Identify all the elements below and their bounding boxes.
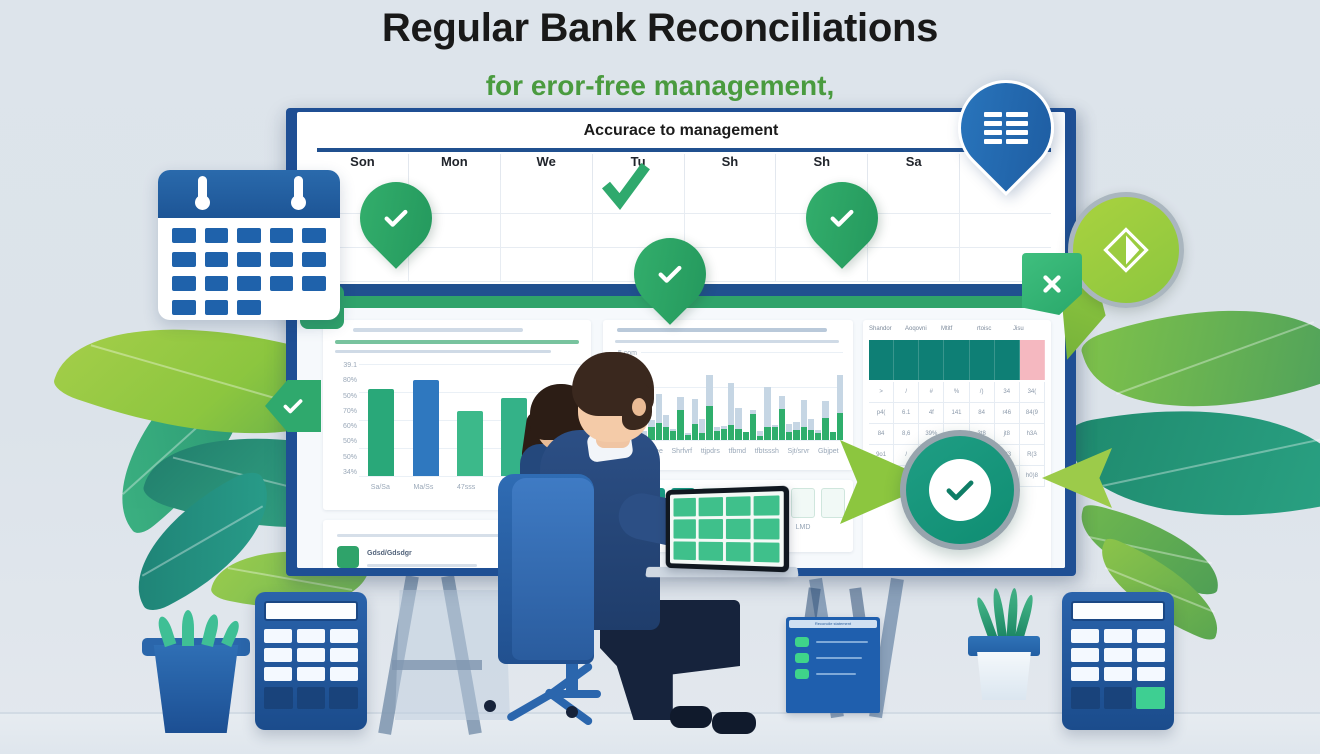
spreadsheet-cell[interactable]: # [919,382,944,402]
calculator-right[interactable] [1062,592,1174,730]
metric-tile-7[interactable] [821,488,845,518]
y-tick: 80% [329,377,357,384]
metric-tile-label [821,524,845,531]
person-shoe [712,712,756,734]
sheet-header-cell: Mtitf [941,326,973,336]
page-title: Regular Bank Reconciliations [0,6,1320,51]
chart-meta-bar [615,340,839,343]
spreadsheet-cell[interactable]: h0)8 [1020,466,1045,486]
status-dot [795,653,809,663]
status-dot [795,669,809,679]
green-bar-24 [815,433,821,440]
day-column-4: Sh [685,154,777,180]
alert-cell [1020,340,1045,380]
day-column-2: We [501,154,593,180]
x-tick: Shrfvrf [672,448,693,462]
window-title-bar: Reconcile statement [789,620,877,628]
green-bar-25 [822,418,828,440]
green-bar-2 [656,423,662,440]
calculator-bottom-keys[interactable] [264,687,358,709]
green-bar-12 [728,425,734,440]
sheet-header-cell: Jisu [1013,326,1045,336]
green-bar-20 [786,432,792,440]
spreadsheet-cell[interactable]: 34 [995,382,1020,402]
calendar-ring [198,176,207,206]
green-bar-10 [714,431,720,440]
green-bar-27 [837,413,843,440]
y-tick: 60% [329,423,357,430]
spreadsheet-cell[interactable]: 84 [970,403,995,423]
green-bar-5 [677,410,683,440]
green-bar-21 [793,430,799,440]
spreadsheet-cell[interactable]: 141 [944,403,969,423]
x-tick: Sjt/srvr [788,448,810,462]
chart-title-placeholder [617,328,827,332]
green-bar-9 [706,406,712,440]
green-bar-19 [779,409,785,440]
x-tick: tfbmd [729,448,747,462]
green-bar-3 [663,427,669,440]
spreadsheet-row: p4(6.14f14184r4684(9 [869,403,1045,424]
page-subtitle: for eror-free management, [0,70,1320,102]
bar-0 [368,389,394,476]
spreadsheet-cell[interactable]: 6.1 [894,403,919,423]
sheet-header-cell: Aoqovni [905,326,937,336]
table-grid-icon [984,112,1028,144]
potted-plant-small [972,652,1036,700]
middle-chart-green-bars [641,352,843,440]
calculator-bottom-keys[interactable] [1071,687,1165,709]
calculator-left[interactable] [255,592,367,730]
middle-chart-plot [641,352,843,440]
y-tick: 50% [329,438,357,445]
magnifier-diamond[interactable] [1068,192,1184,308]
x-tick: tfbtsssh [755,448,779,462]
laptop-spreadsheet [670,491,784,567]
x-tick: Sa/Sa [371,484,390,498]
check-icon [380,202,412,234]
spreadsheet-row: >/#%/)3434( [869,382,1045,403]
spreadsheet-cell[interactable]: 4f [919,403,944,423]
spreadsheet-cell[interactable]: r46 [995,403,1020,423]
spreadsheet-cell[interactable]: > [869,382,894,402]
green-bar-13 [735,429,741,440]
x-tick: ttjpdrs [701,448,720,462]
spreadsheet-cell[interactable]: 84(9 [1020,403,1045,423]
green-bar-8 [699,433,705,440]
calculator-keys[interactable] [264,629,358,681]
green-bar-26 [830,432,836,440]
reconciliation-window[interactable]: Reconcile statement [786,617,880,713]
bank-icon [337,546,359,568]
spreadsheet-cell[interactable]: R(3 [1020,445,1045,465]
grass-blade [182,610,194,646]
calculator-display [1071,601,1165,621]
green-bar-22 [801,427,807,440]
green-bar-15 [750,414,756,440]
y-tick: 50% [329,393,357,400]
sheet-header-cell: Shandor [869,326,901,336]
green-bar-14 [743,432,749,440]
bar-2 [457,411,483,476]
sheet-header-cell: rtoisc [977,326,1009,336]
check-icon [826,202,858,234]
spreadsheet-cell[interactable]: % [944,382,969,402]
chart-meta-bar [335,350,551,353]
spreadsheet-cell[interactable]: /) [970,382,995,402]
calendar-header [158,170,340,218]
left-chart-y-axis: 39.1 80% 50% 70% 60% 50% 50% 34% [329,362,357,476]
big-check-seal[interactable] [900,430,1020,550]
check-icon [654,258,686,290]
chart-title-placeholder [353,328,523,332]
day-column-6: Sa [868,154,960,180]
document-row-label: Gdsd/Gdsdgr [367,550,412,557]
day-header-row: Son Mon We Tu Sh Sh Sa Son [317,154,1051,180]
spreadsheet-cell[interactable]: h3A [1020,424,1045,444]
spreadsheet-cell[interactable]: p4( [869,403,894,423]
green-bar-7 [692,424,698,440]
spreadsheet-summary-band [869,340,1045,380]
laptop-screen [666,486,789,573]
bar-1 [413,380,439,476]
middle-chart-x-axis: spreeShrfvrfttjpdrstfbmdtfbtssshSjt/srvr… [641,448,843,462]
metric-tile-6[interactable] [791,488,815,518]
calendar-ring [294,176,303,206]
calculator-keys[interactable] [1071,629,1165,681]
check-circle-icon [929,459,991,521]
y-tick: 50% [329,454,357,461]
green-bar-17 [764,427,770,440]
y-tick: 39.1 [329,362,357,369]
calendar-icon [158,170,340,320]
x-tick: Gbjpet [818,448,839,462]
day-column-5: Sh [776,154,868,180]
x-tick: 47sss [457,484,475,498]
chair-castor [484,700,496,712]
diamond-icon [1097,221,1155,279]
green-bar-11 [721,429,727,440]
metric-tile-label: LMD [791,524,815,531]
spreadsheet-cell[interactable]: / [894,382,919,402]
calculator-equals-key [1136,687,1165,709]
green-bar-6 [685,435,691,440]
spreadsheet-cell[interactable]: 84 [869,424,894,444]
y-tick: 70% [329,408,357,415]
easel-crossbar [392,660,482,670]
green-bar-18 [772,427,778,440]
spreadsheet-cell[interactable]: 8,6 [894,424,919,444]
board-check-mark [600,162,652,212]
x-tick: Ma/Ss [413,484,433,498]
calendar-day-grid [172,228,326,315]
spreadsheet-cell[interactable]: 34( [1020,382,1045,402]
illustration-canvas: Accurace to management Son Mon We Tu Sh … [0,0,1320,754]
green-bar-23 [808,430,814,440]
y-tick: 34% [329,469,357,476]
close-x-icon [1039,271,1065,297]
chart-subtitle-bar [335,340,579,344]
check-icon [280,393,306,419]
person-shoe [670,706,712,728]
day-column-1: Mon [409,154,501,180]
board-header-rule [317,148,1051,152]
office-chair-cushion [512,478,594,660]
green-bar-4 [670,431,676,440]
chair-castor [566,706,578,718]
spreadsheet-cell[interactable]: jt8 [995,424,1020,444]
person-ear [632,398,646,416]
status-dot [795,637,809,647]
calculator-display [264,601,358,621]
spreadsheet-header-labels: Shandor Aoqovni Mtitf rtoisc Jisu [869,326,1045,336]
board-header-title: Accurace to management [297,122,1065,140]
green-bar-16 [757,436,763,440]
